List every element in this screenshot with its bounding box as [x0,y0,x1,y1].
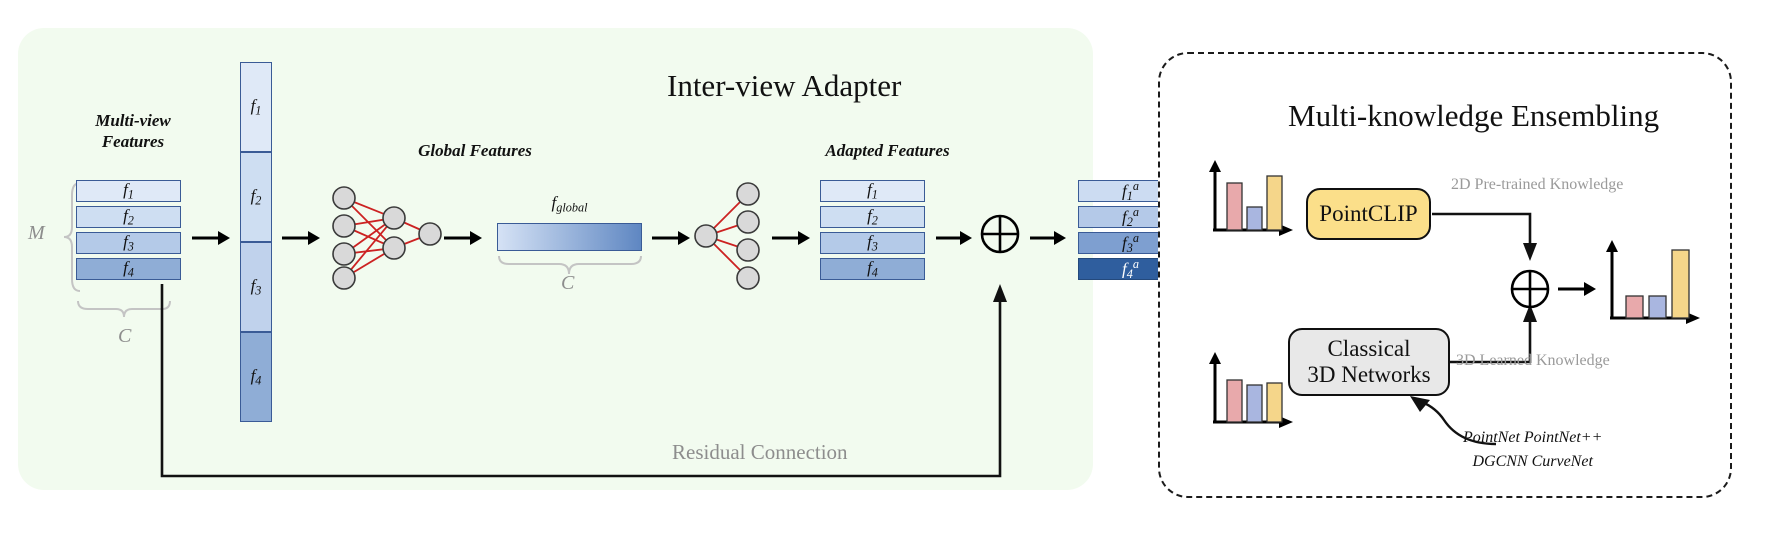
arrow-add-to-output-histogram [1558,279,1600,299]
feature-label: f1 [867,180,878,202]
caption-adapted-features: Adapted Features [800,140,975,161]
classical-3d-line-2: 3D Networks [1307,362,1430,388]
pointclip-box[interactable]: PointCLIP [1306,188,1431,240]
decoded-feature-3: f3 [820,232,925,254]
mlp-encoder-graph [326,180,446,290]
decoded-feature-1: f1 [820,180,925,202]
feature-label: f3 [123,232,134,254]
arrow-global-to-decoder [652,228,692,248]
classical-3d-line-1: Classical [1327,336,1410,362]
residual-connection-path [158,280,1018,500]
arrow-encoder-to-global [444,228,484,248]
concat-segment-2: f2 [240,152,272,242]
feature-label: f4 [123,258,134,280]
f-global-text: fglobal [551,193,587,212]
label-m-dimension: M [28,222,45,245]
network-list: PointNet PointNet++ DGCNN CurveNet [1463,426,1602,474]
caption-multi-view-features: Multi-view Features [68,110,198,153]
network-list-line-1: PointNet PointNet++ [1463,426,1602,450]
arrow-stack-to-concat [192,228,232,248]
multi-view-feature-1: f1 [76,180,181,202]
feature-label: f3a [1122,231,1139,256]
feature-label: f2 [123,206,134,228]
arrow-add-to-adapted [1030,228,1068,248]
pointclip-label: PointCLIP [1319,201,1417,227]
concat-segment-1: f1 [240,62,272,152]
label-2d-pretrained-knowledge: 2D Pre-trained Knowledge [1451,176,1623,194]
feature-label: f2 [867,206,878,228]
feature-label: f3 [867,232,878,254]
mlp-decoder-graph [692,180,772,290]
page-title-multi-knowledge: Multi-knowledge Ensembling [1288,98,1659,134]
multi-view-feature-4: f4 [76,258,181,280]
arrow-features-to-add [936,228,974,248]
feature-label: f1 [251,96,262,118]
label-residual-connection: Residual Connection [672,440,848,465]
histogram-2d-input [1205,160,1300,245]
feature-label: f4 [867,258,878,280]
feature-label: f2 [251,186,262,208]
global-feature-bar [497,223,642,251]
residual-add-operator [978,212,1022,256]
histogram-3d-input [1205,352,1300,437]
label-f-global: fglobal [497,193,642,215]
multi-view-feature-2: f2 [76,206,181,228]
caption-global-features: Global Features [395,140,555,161]
feature-label: f2a [1122,205,1139,230]
label-c-dimension-left: C [118,325,131,348]
feature-label: f1 [123,180,134,202]
feature-label: f1a [1122,179,1139,204]
page-title-inter-view-adapter: Inter-view Adapter [667,68,901,104]
decoded-feature-4: f4 [820,258,925,280]
classical-3d-networks-box[interactable]: Classical 3D Networks [1288,328,1450,396]
multi-view-feature-3: f3 [76,232,181,254]
arrow-concat-to-encoder [282,228,322,248]
network-list-line-2: DGCNN CurveNet [1463,450,1602,474]
label-3d-learned-knowledge: 3D Learned Knowledge [1456,352,1610,370]
caption-line-1: Multi-view [68,110,198,131]
decoded-feature-2: f2 [820,206,925,228]
ensembling-add-operator [1508,267,1552,311]
caption-line-2: Features [68,131,198,152]
arrow-decoder-to-features [772,228,812,248]
histogram-ensembled-output [1602,240,1712,340]
feature-label: f4a [1122,257,1139,282]
